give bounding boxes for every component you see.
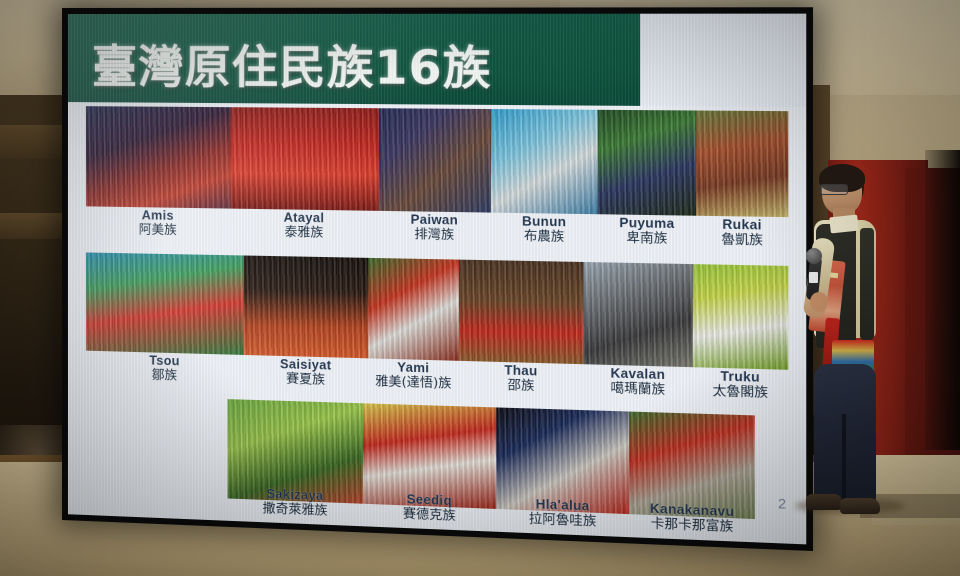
tsou-field-photo bbox=[86, 252, 244, 355]
slide-title: 臺灣原住民族16族 bbox=[92, 30, 492, 98]
tribe-label-chinese: 阿美族 bbox=[97, 222, 218, 237]
slide-body: Amis阿美族Atayal泰雅族Paiwan排灣族Bunun布農族Puyuma卑… bbox=[68, 102, 806, 544]
photo-texture bbox=[86, 252, 244, 355]
tribe-label-chinese: 魯凱族 bbox=[676, 231, 807, 247]
photo-texture bbox=[86, 106, 230, 208]
tribe-label: Amis阿美族 bbox=[97, 209, 218, 237]
tribe-label: Hla'alua拉阿魯哇族 bbox=[498, 497, 628, 529]
kavalan-elders-photo bbox=[584, 262, 693, 367]
puyuma-ritual-photo bbox=[598, 110, 696, 216]
leg-separation bbox=[842, 414, 846, 500]
yami-boat-photo bbox=[368, 258, 459, 361]
tribe-label-chinese: 邵族 bbox=[457, 376, 586, 393]
photo-texture bbox=[459, 260, 584, 365]
photo-texture bbox=[584, 262, 693, 367]
photo-texture bbox=[696, 110, 788, 217]
led-screen[interactable]: 臺灣原住民族16族 Amis阿美族Atayal泰雅族Paiwan排灣族Bunun… bbox=[68, 14, 806, 545]
photo-texture bbox=[378, 108, 490, 212]
microphone-label bbox=[809, 272, 818, 283]
photo-texture bbox=[491, 109, 598, 214]
shoe bbox=[806, 494, 842, 510]
tribe-label: Thau邵族 bbox=[457, 363, 586, 394]
photo-strip-row-1 bbox=[86, 106, 788, 217]
left-background-room bbox=[0, 95, 70, 515]
photo-texture bbox=[598, 110, 696, 216]
slide-page-number: 2 bbox=[778, 496, 786, 512]
shoe bbox=[840, 498, 880, 514]
rukai-procession-photo bbox=[696, 110, 788, 217]
photo-texture bbox=[244, 255, 368, 358]
tribe-label: Atayal泰雅族 bbox=[242, 211, 366, 240]
tribe-label: Truku太魯閣族 bbox=[674, 369, 806, 401]
collar bbox=[829, 215, 859, 234]
tribe-label: Tsou鄒族 bbox=[104, 353, 226, 383]
tribe-label-chinese: 太魯閣族 bbox=[674, 383, 806, 401]
atayal-group-photo bbox=[230, 107, 378, 211]
truku-lawn-photo bbox=[692, 264, 788, 370]
bunun-gathering-photo bbox=[491, 109, 598, 214]
tribe-label: Seediq賽德克族 bbox=[366, 492, 493, 524]
amis-dancers-photo bbox=[86, 106, 230, 208]
led-screen-frame: 臺灣原住民族16族 Amis阿美族Atayal泰雅族Paiwan排灣族Bunun… bbox=[62, 7, 813, 551]
background-shelf bbox=[0, 213, 66, 239]
hand bbox=[810, 292, 828, 312]
glasses-icon bbox=[820, 184, 848, 195]
slide-title-bar: 臺灣原住民族16族 bbox=[68, 14, 640, 106]
paiwan-ceremony-photo bbox=[378, 108, 490, 212]
presentation-room-scene: 臺灣原住民族16族 Amis阿美族Atayal泰雅族Paiwan排灣族Bunun… bbox=[0, 0, 960, 576]
tribe-label: Kanakanavu卡那卡那富族 bbox=[626, 501, 758, 534]
background-shelf bbox=[0, 125, 66, 159]
vest-side bbox=[860, 228, 874, 340]
speaker bbox=[800, 168, 892, 530]
thau-redshirts-photo bbox=[459, 260, 584, 365]
saisiyat-night-photo bbox=[244, 255, 368, 358]
tribe-label: Rukai魯凱族 bbox=[676, 218, 807, 248]
tribe-label: Sakizaya撒奇萊雅族 bbox=[233, 487, 357, 519]
tribe-label-chinese: 鄒族 bbox=[104, 366, 226, 383]
photo-texture bbox=[368, 258, 459, 361]
microphone-head-icon bbox=[806, 248, 822, 264]
photo-texture bbox=[230, 107, 378, 211]
photo-strip-row-2 bbox=[86, 252, 788, 369]
photo-texture bbox=[692, 264, 788, 370]
right-edge-shadow bbox=[925, 150, 960, 450]
tribe-label-chinese: 泰雅族 bbox=[242, 224, 366, 240]
